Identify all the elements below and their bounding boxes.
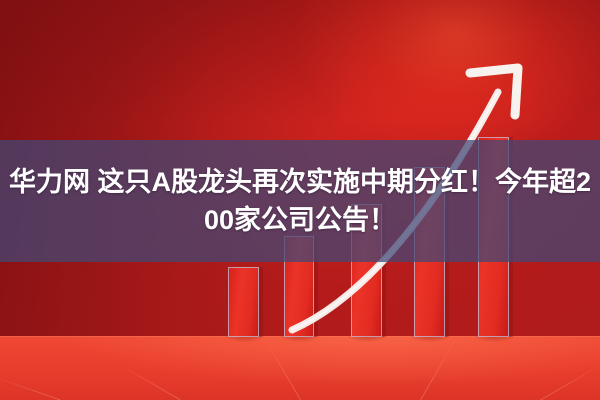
chart-bar bbox=[228, 267, 259, 337]
bar-side-face bbox=[259, 267, 263, 337]
bar-outline bbox=[228, 267, 259, 337]
floor-sheen bbox=[0, 336, 600, 400]
banner-image: 华力网 这只A股龙头再次实施中期分红！今年超200家公司公告！ bbox=[0, 0, 600, 400]
caption-overlay-band: 华力网 这只A股龙头再次实施中期分红！今年超200家公司公告！ bbox=[0, 140, 600, 262]
perspective-floor bbox=[0, 336, 600, 400]
caption-headline: 华力网 这只A股龙头再次实施中期分红！今年超200家公司公告！ bbox=[0, 163, 600, 239]
